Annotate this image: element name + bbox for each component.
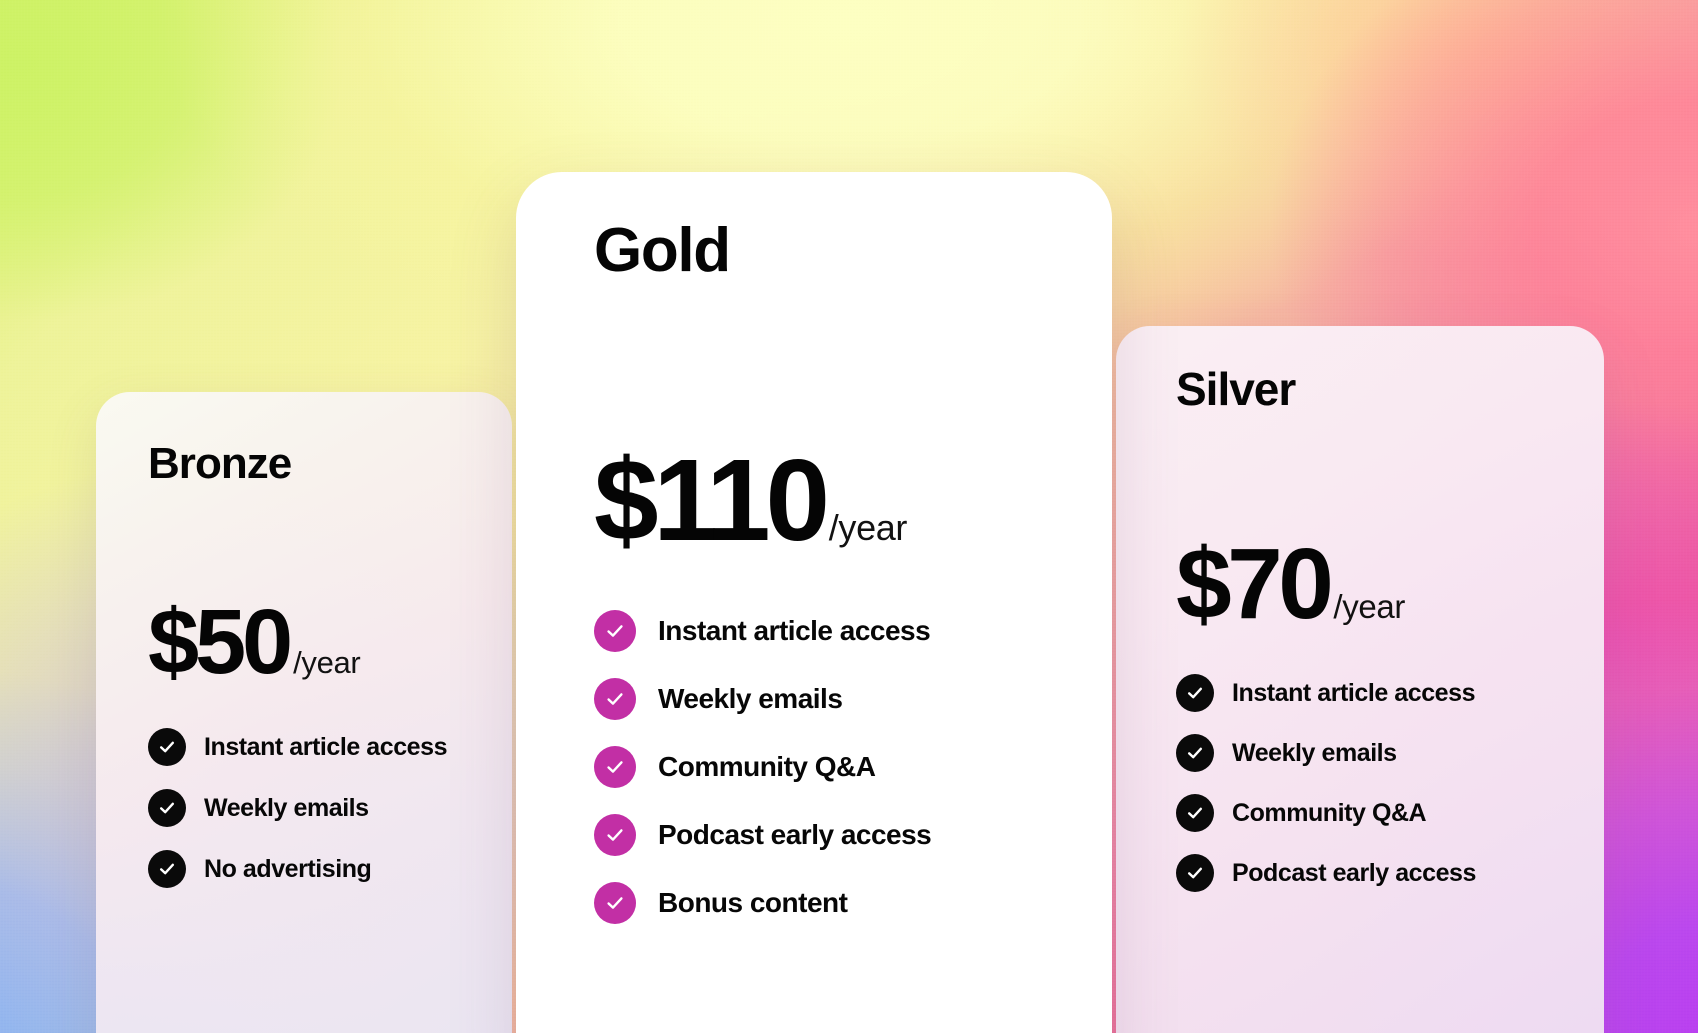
list-item: Podcast early access xyxy=(594,814,1034,856)
check-circle-icon xyxy=(148,850,186,888)
pricing-card-bronze[interactable]: Bronze $50 /year Instant article access … xyxy=(96,392,512,1033)
feature-label: Instant article access xyxy=(1232,679,1475,708)
price-period-silver: /year xyxy=(1333,590,1405,623)
price-amount-silver: $70 xyxy=(1176,534,1329,634)
list-item: Instant article access xyxy=(148,728,460,766)
list-item: No advertising xyxy=(148,850,460,888)
price-silver: $70 /year xyxy=(1176,412,1544,634)
price-amount-bronze: $50 xyxy=(148,596,289,688)
list-item: Weekly emails xyxy=(594,678,1034,720)
list-item: Bonus content xyxy=(594,882,1034,924)
plan-name-gold: Gold xyxy=(594,172,1034,282)
list-item: Podcast early access xyxy=(1176,854,1544,892)
list-item: Community Q&A xyxy=(594,746,1034,788)
feature-label: Instant article access xyxy=(204,733,447,762)
feature-label: Weekly emails xyxy=(658,683,842,715)
feature-label: Weekly emails xyxy=(204,794,369,823)
pricing-card-silver[interactable]: Silver $70 /year Instant article access … xyxy=(1116,326,1604,1033)
feature-label: Weekly emails xyxy=(1232,739,1397,768)
check-circle-icon xyxy=(1176,734,1214,772)
list-item: Community Q&A xyxy=(1176,794,1544,832)
price-period-bronze: /year xyxy=(293,647,360,678)
check-circle-icon xyxy=(594,746,636,788)
list-item: Weekly emails xyxy=(1176,734,1544,772)
pricing-card-gold[interactable]: Gold $110 /year Instant article access W… xyxy=(516,172,1112,1033)
plan-name-bronze: Bronze xyxy=(148,392,460,486)
check-circle-icon xyxy=(594,814,636,856)
feature-label: No advertising xyxy=(204,855,371,884)
price-amount-gold: $110 xyxy=(594,442,825,558)
feature-label: Instant article access xyxy=(658,615,930,647)
list-item: Instant article access xyxy=(1176,674,1544,712)
check-circle-icon xyxy=(594,610,636,652)
check-circle-icon xyxy=(1176,854,1214,892)
price-bronze: $50 /year xyxy=(148,486,460,688)
pricing-page: Bronze $50 /year Instant article access … xyxy=(0,0,1698,1033)
feature-label: Community Q&A xyxy=(658,751,875,783)
feature-label: Podcast early access xyxy=(658,819,931,851)
list-item: Weekly emails xyxy=(148,789,460,827)
check-circle-icon xyxy=(1176,794,1214,832)
feature-label: Community Q&A xyxy=(1232,799,1426,828)
feature-list-silver: Instant article access Weekly emails Com… xyxy=(1176,674,1544,892)
price-gold: $110 /year xyxy=(594,282,1034,558)
check-circle-icon xyxy=(594,882,636,924)
feature-label: Bonus content xyxy=(658,887,847,919)
plan-name-silver: Silver xyxy=(1176,326,1544,412)
list-item: Instant article access xyxy=(594,610,1034,652)
feature-list-gold: Instant article access Weekly emails Com… xyxy=(594,610,1034,924)
feature-list-bronze: Instant article access Weekly emails No … xyxy=(148,728,460,888)
check-circle-icon xyxy=(594,678,636,720)
price-period-gold: /year xyxy=(829,510,907,546)
check-circle-icon xyxy=(148,789,186,827)
feature-label: Podcast early access xyxy=(1232,859,1476,888)
check-circle-icon xyxy=(1176,674,1214,712)
check-circle-icon xyxy=(148,728,186,766)
